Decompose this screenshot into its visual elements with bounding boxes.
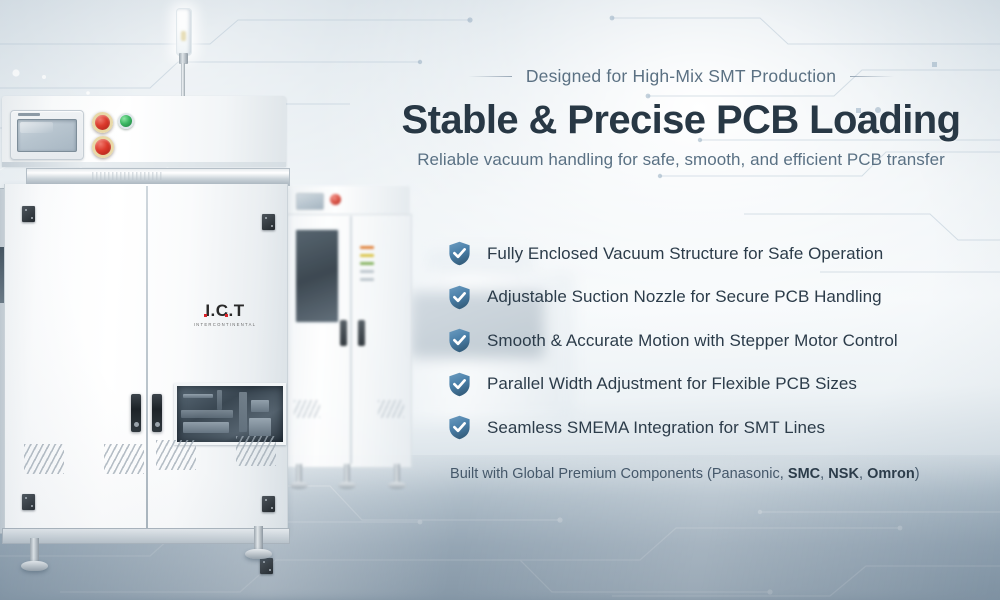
footnote-suffix: ) (915, 466, 920, 482)
list-item: Parallel Width Adjustment for Flexible P… (448, 363, 1000, 407)
brand-nsk: NSK (828, 466, 859, 482)
list-item: Fully Enclosed Vacuum Structure for Safe… (448, 232, 1000, 276)
shield-check-icon (448, 372, 471, 397)
brand-omron: Omron (867, 466, 915, 482)
feature-label: Fully Enclosed Vacuum Structure for Safe… (487, 244, 883, 264)
brand-smc: SMC (788, 466, 820, 482)
list-item: Seamless SMEMA Integration for SMT Lines (448, 406, 1000, 450)
footnote-sep: , (859, 466, 867, 482)
eyebrow-text: Designed for High-Mix SMT Production (526, 66, 836, 87)
components-footnote: Built with Global Premium Components (Pa… (450, 466, 1000, 482)
page-subtitle: Reliable vacuum handling for safe, smoot… (362, 150, 1000, 170)
feature-list: Fully Enclosed Vacuum Structure for Safe… (448, 232, 1000, 450)
footnote-prefix: Built with Global Premium Components ( (450, 466, 712, 482)
hero-banner: I.C.T INTERCONTINENTAL Designe (0, 0, 1000, 600)
page-title: Stable & Precise PCB Loading (362, 98, 1000, 143)
shield-check-icon (448, 241, 471, 266)
eyebrow-rule-right (850, 76, 894, 77)
list-item: Adjustable Suction Nozzle for Secure PCB… (448, 276, 1000, 320)
shield-check-icon (448, 285, 471, 310)
shield-check-icon (448, 415, 471, 440)
feature-label: Seamless SMEMA Integration for SMT Lines (487, 418, 825, 438)
feature-label: Adjustable Suction Nozzle for Secure PCB… (487, 287, 882, 307)
shield-check-icon (448, 328, 471, 353)
feature-label: Parallel Width Adjustment for Flexible P… (487, 374, 857, 394)
hero-content: Designed for High-Mix SMT Production Sta… (362, 0, 1000, 600)
footnote-sep: , (780, 466, 788, 482)
eyebrow-rule-left (468, 76, 512, 77)
list-item: Smooth & Accurate Motion with Stepper Mo… (448, 319, 1000, 363)
brand-panasonic: Panasonic (712, 466, 780, 482)
eyebrow-row: Designed for High-Mix SMT Production (362, 66, 1000, 87)
feature-label: Smooth & Accurate Motion with Stepper Mo… (487, 331, 898, 351)
